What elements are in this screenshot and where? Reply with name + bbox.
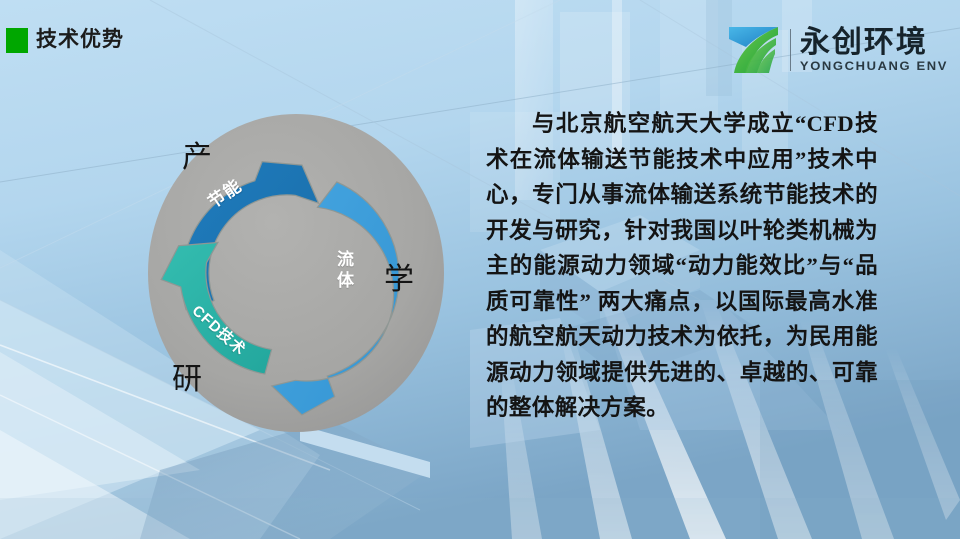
logo-text-block: 永创环境 YONGCHUANG ENV bbox=[800, 27, 948, 74]
presentation-slide: 技术优势 永创环 bbox=[0, 0, 960, 539]
logo-name-cn: 永创环境 bbox=[800, 27, 948, 59]
segment-label-liuti: 流体 bbox=[336, 249, 356, 291]
company-logo: 永创环境 YONGCHUANG ENV bbox=[726, 22, 948, 78]
diagram-label-chan: 产 bbox=[182, 142, 212, 174]
page-title: 技术优势 bbox=[36, 27, 124, 53]
body-paragraph: 与北京航空航天大学成立“CFD技术在流体输送节能技术中应用”技术中心，专门从事流… bbox=[486, 106, 878, 426]
logo-mark-icon bbox=[726, 24, 784, 76]
logo-divider bbox=[790, 29, 791, 71]
diagram-label-xue: 学 bbox=[384, 264, 414, 296]
title-marker-icon bbox=[6, 28, 28, 53]
logo-name-en: YONGCHUANG ENV bbox=[800, 59, 948, 73]
cycle-diagram: 产 学 研 节能 流体 CFD技术 bbox=[146, 112, 446, 434]
diagram-label-yan: 研 bbox=[172, 364, 202, 396]
slide-header: 技术优势 永创环 bbox=[0, 0, 960, 82]
